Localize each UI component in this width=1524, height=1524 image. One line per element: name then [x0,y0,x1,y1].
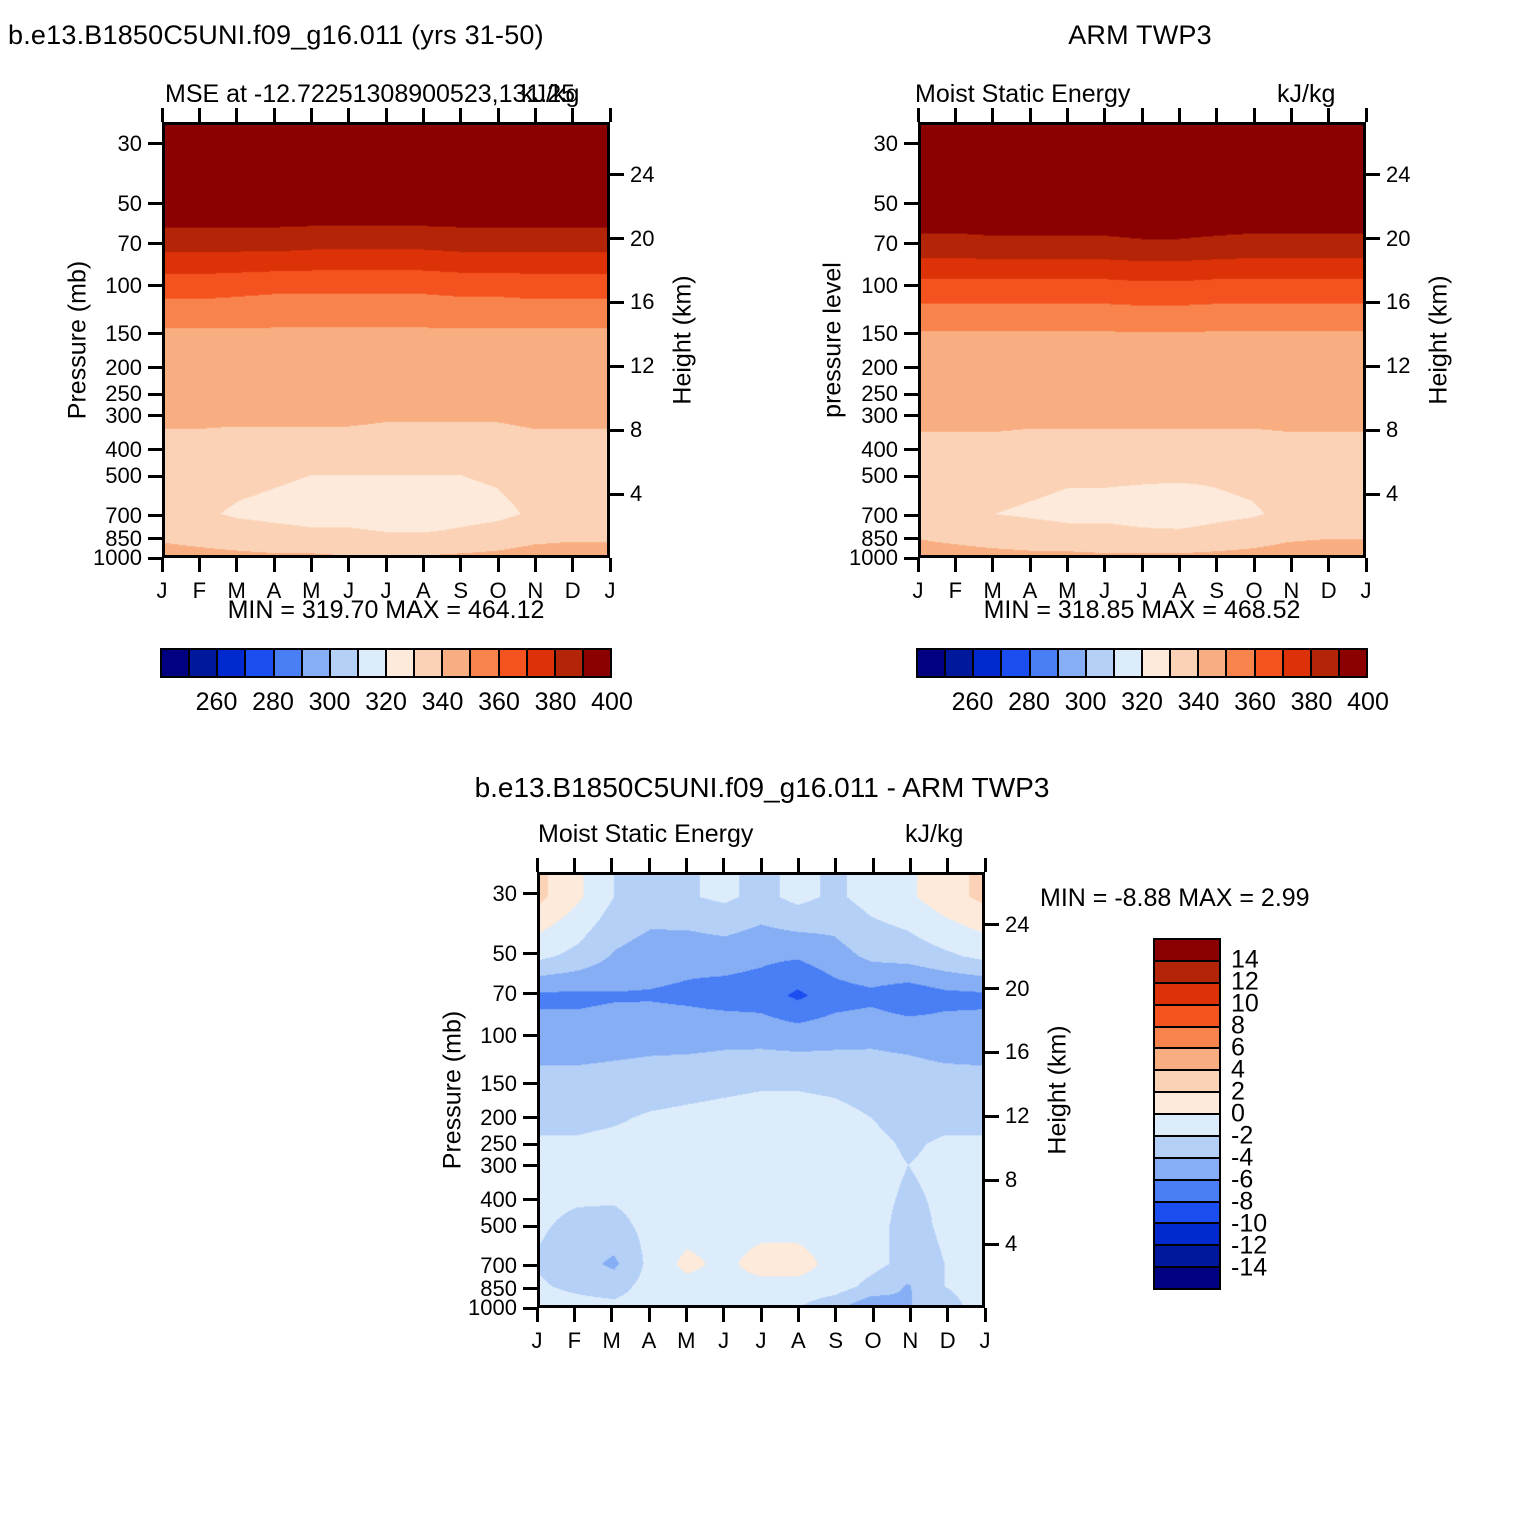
pressure-tick-label: 700 [443,1255,517,1277]
height-tick [985,1243,999,1246]
height-tick [985,1051,999,1054]
month-tick-top [310,108,313,122]
left-panel-subtitle: MSE at -12.72251308900523,131.25 [165,80,575,109]
colorbar-swatch[interactable] [1171,650,1199,676]
month-tick [685,1308,688,1322]
pressure-tick [904,332,918,335]
pressure-tick [148,202,162,205]
colorbar-swatch[interactable] [946,650,974,676]
month-tick [571,558,574,572]
colorbar-tick-label: 360 [1234,688,1276,717]
month-tick-top [536,858,539,872]
pressure-tick [523,1287,537,1290]
month-tick [1365,558,1368,572]
month-tick-top [1103,108,1106,122]
pressure-tick [148,514,162,517]
pressure-tick [523,1116,537,1119]
colorbar-swatch[interactable] [303,650,331,676]
height-tick-label: 20 [1386,228,1410,250]
height-tick [1366,429,1380,432]
pressure-tick [904,142,918,145]
colorbar-tick-label: 340 [1178,688,1220,717]
month-tick [347,558,350,572]
month-tick-label: S [828,1330,843,1352]
month-tick [273,558,276,572]
pressure-tick-label: 30 [443,883,517,905]
difference-colorbar-labels: 14121086420-2-4-6-8-10-12-14 [1153,938,1303,1290]
month-tick-top [571,108,574,122]
height-tick-label: 20 [630,228,654,250]
height-tick [610,173,624,176]
pressure-tick [523,992,537,995]
month-tick [385,558,388,572]
month-tick-top [385,108,388,122]
pressure-tick [523,952,537,955]
colorbar-tick-label: 380 [1291,688,1333,717]
month-tick [1253,558,1256,572]
colorbar-swatch[interactable] [359,650,387,676]
month-tick-top [797,858,800,872]
pressure-tick [523,1143,537,1146]
pressure-tick-label: 500 [68,465,142,487]
height-tick [1366,301,1380,304]
colorbar-swatch[interactable] [1031,650,1059,676]
pressure-tick [523,1225,537,1228]
month-tick [797,1308,800,1322]
month-tick [1327,558,1330,572]
month-tick-top [534,108,537,122]
colorbar-swatch[interactable] [387,650,415,676]
right-colorbar[interactable] [916,648,1368,678]
height-tick [985,923,999,926]
pressure-tick-label: 30 [68,133,142,155]
month-tick-top [760,858,763,872]
height-tick-label: 24 [1386,164,1410,186]
month-tick-top [1215,108,1218,122]
colorbar-tick-label: 280 [252,688,294,717]
colorbar-swatch[interactable] [556,650,584,676]
height-tick-label: 8 [1005,1169,1017,1191]
pressure-tick [148,393,162,396]
pressure-tick [148,414,162,417]
month-tick-label: J [718,1330,729,1352]
month-tick-top [1327,108,1330,122]
left-ylabel: Pressure (mb) [64,261,93,419]
colorbar-swatch[interactable] [528,650,556,676]
pressure-tick-label: 500 [443,1215,517,1237]
height-tick-label: 8 [630,419,642,441]
month-tick [497,558,500,572]
left-panel-units: kJ/kg [521,80,579,109]
month-tick-label: J [532,1330,543,1352]
pressure-tick-label: 70 [824,233,898,255]
height-tick-label: 20 [1005,978,1029,1000]
month-tick-top [273,108,276,122]
month-tick [834,1308,837,1322]
pressure-tick [904,366,918,369]
colorbar-tick-label: 380 [535,688,577,717]
month-tick-top [648,858,651,872]
month-tick-label: D [940,1330,956,1352]
right-panel-units: kJ/kg [1277,80,1335,109]
pressure-tick [904,202,918,205]
month-tick-top [422,108,425,122]
month-tick [872,1308,875,1322]
month-tick-top [1253,108,1256,122]
month-tick-top [834,858,837,872]
pressure-tick-label: 30 [824,133,898,155]
month-tick [1215,558,1218,572]
colorbar-tick-label: 320 [365,688,407,717]
bottom-panel-title: b.e13.B1850C5UNI.f09_g16.011 - ARM TWP3 [262,772,1262,804]
month-tick [648,1308,651,1322]
month-tick-label: M [602,1330,620,1352]
bottom-contour-canvas [540,875,982,1305]
colorbar-swatch[interactable] [1143,650,1171,676]
month-tick-top [954,108,957,122]
right-ylabel: pressure level [819,262,848,418]
right-ylabel-right: Height (km) [1425,275,1454,404]
height-tick [610,429,624,432]
month-tick [198,558,201,572]
pressure-tick-label: 400 [443,1189,517,1211]
month-tick-top [1066,108,1069,122]
colorbar-swatch[interactable] [443,650,471,676]
height-tick [1366,173,1380,176]
pressure-tick-label: 70 [68,233,142,255]
month-tick-top [573,858,576,872]
left-minmax: MIN = 319.70 MAX = 464.12 [162,596,610,625]
month-tick-label: J [756,1330,767,1352]
month-tick [917,558,920,572]
month-tick [1141,558,1144,572]
pressure-tick [904,537,918,540]
pressure-tick [523,1082,537,1085]
height-tick-label: 12 [1386,355,1410,377]
pressure-tick [904,514,918,517]
colorbar-tick-label: 400 [591,688,633,717]
left-ylabel-right: Height (km) [669,275,698,404]
pressure-tick-label: 1000 [68,547,142,569]
month-tick [573,1308,576,1322]
colorbar-swatch[interactable] [1256,650,1284,676]
colorbar-swatch[interactable] [500,650,528,676]
pressure-tick [148,537,162,540]
month-tick-top [610,858,613,872]
month-tick [610,1308,613,1322]
month-tick-top [459,108,462,122]
height-tick [610,301,624,304]
colorbar-swatch[interactable] [1312,650,1340,676]
right-panel-run-title: ARM TWP3 [920,20,1360,51]
pressure-tick-label: 700 [68,505,142,527]
pressure-tick-label: 50 [443,943,517,965]
month-tick [984,1308,987,1322]
month-tick-label: J [980,1330,991,1352]
bottom-panel-subtitle: Moist Static Energy [538,820,753,849]
month-tick [991,558,994,572]
colorbar-tick-label: 300 [1065,688,1107,717]
month-tick-top [917,108,920,122]
month-tick-label: A [791,1330,806,1352]
bottom-ylabel: Pressure (mb) [439,1011,468,1169]
height-tick [610,237,624,240]
colorbar-tick-label: 340 [422,688,464,717]
pressure-tick-label: 700 [824,505,898,527]
colorbar-swatch[interactable] [1340,650,1366,676]
bottom-minmax: MIN = -8.88 MAX = 2.99 [1040,884,1310,913]
right-plot-area[interactable] [918,122,1366,558]
colorbar-swatch[interactable] [918,650,946,676]
pressure-tick-label: 850 [443,1278,517,1300]
pressure-tick-label: 850 [68,528,142,550]
left-colorbar[interactable] [160,648,612,678]
height-tick-label: 16 [1386,291,1410,313]
month-tick [459,558,462,572]
month-tick-top [984,858,987,872]
month-tick-top [1141,108,1144,122]
month-tick [954,558,957,572]
month-tick-top [609,108,612,122]
colorbar-swatch[interactable] [471,650,499,676]
month-tick-top [991,108,994,122]
colorbar-swatch[interactable] [1115,650,1143,676]
height-tick [610,365,624,368]
month-tick-label: F [568,1330,581,1352]
pressure-tick-label: 850 [824,528,898,550]
height-tick-label: 12 [630,355,654,377]
left-contour-canvas [165,125,607,555]
colorbar-tick-label: 360 [478,688,520,717]
colorbar-swatch[interactable] [415,650,443,676]
month-tick [722,1308,725,1322]
colorbar-tick-label: -14 [1231,1254,1267,1283]
pressure-tick [148,557,162,560]
height-tick [985,1179,999,1182]
month-tick-top [497,108,500,122]
height-tick-label: 4 [1386,483,1398,505]
pressure-tick [904,448,918,451]
colorbar-swatch[interactable] [584,650,610,676]
left-panel-run-title: b.e13.B1850C5UNI.f09_g16.011 (yrs 31-50) [8,20,544,51]
right-colorbar-labels: 260280300320340360380400 [916,688,1368,718]
right-contour-canvas [921,125,1363,555]
month-tick-top [872,858,875,872]
month-tick-top [347,108,350,122]
pressure-tick [904,557,918,560]
month-tick-top [685,858,688,872]
colorbar-tick-label: 400 [1347,688,1389,717]
pressure-tick [523,1198,537,1201]
colorbar-tick-label: 260 [196,688,238,717]
month-tick-top [909,858,912,872]
colorbar-swatch[interactable] [1284,650,1312,676]
colorbar-tick-label: 280 [1008,688,1050,717]
month-tick [1029,558,1032,572]
height-tick-label: 4 [1005,1233,1017,1255]
colorbar-swatch[interactable] [331,650,359,676]
month-tick [536,1308,539,1322]
height-tick [985,987,999,990]
month-tick [422,558,425,572]
bottom-ylabel-right: Height (km) [1044,1025,1073,1154]
month-tick-top [1029,108,1032,122]
month-tick-top [1365,108,1368,122]
height-tick-label: 24 [1005,914,1029,936]
month-tick [946,1308,949,1322]
pressure-tick [148,242,162,245]
pressure-tick [148,366,162,369]
left-plot-area[interactable] [162,122,610,558]
colorbar-swatch[interactable] [974,650,1002,676]
month-tick [235,558,238,572]
right-panel-subtitle: Moist Static Energy [915,80,1130,109]
pressure-tick [904,393,918,396]
pressure-tick [523,1307,537,1310]
month-tick [609,558,612,572]
pressure-tick [523,1264,537,1267]
month-tick [161,558,164,572]
pressure-tick-label: 1000 [824,547,898,569]
month-tick-label: O [864,1330,881,1352]
month-tick [1290,558,1293,572]
colorbar-tick-label: 260 [952,688,994,717]
colorbar-swatch[interactable] [218,650,246,676]
pressure-tick [904,414,918,417]
month-tick-label: A [642,1330,657,1352]
month-tick-label: N [902,1330,918,1352]
month-tick-top [1290,108,1293,122]
height-tick-label: 16 [1005,1041,1029,1063]
month-tick-top [235,108,238,122]
month-tick [1178,558,1181,572]
month-tick-top [946,858,949,872]
pressure-tick-label: 400 [68,439,142,461]
left-colorbar-labels: 260280300320340360380400 [160,688,612,718]
colorbar-swatch[interactable] [275,650,303,676]
colorbar-swatch[interactable] [1059,650,1087,676]
month-tick [1066,558,1069,572]
pressure-tick-label: 1000 [443,1297,517,1319]
pressure-tick [148,475,162,478]
pressure-tick [148,332,162,335]
colorbar-swatch[interactable] [1087,650,1115,676]
height-tick [610,493,624,496]
colorbar-swatch[interactable] [1227,650,1255,676]
colorbar-swatch[interactable] [190,650,218,676]
pressure-tick [523,1034,537,1037]
month-tick [1103,558,1106,572]
height-tick-label: 12 [1005,1105,1029,1127]
pressure-tick-label: 70 [443,983,517,1005]
month-tick-label: M [677,1330,695,1352]
pressure-tick [904,284,918,287]
pressure-tick-label: 500 [824,465,898,487]
height-tick [1366,237,1380,240]
pressure-tick-label: 400 [824,439,898,461]
height-tick-label: 24 [630,164,654,186]
month-tick [534,558,537,572]
colorbar-swatch[interactable] [1199,650,1227,676]
height-tick-label: 4 [630,483,642,505]
colorbar-swatch[interactable] [246,650,274,676]
pressure-tick [523,892,537,895]
bottom-plot-area[interactable] [537,872,985,1308]
pressure-tick [904,242,918,245]
right-minmax: MIN = 318.85 MAX = 468.52 [918,596,1366,625]
pressure-tick [148,142,162,145]
month-tick [760,1308,763,1322]
height-tick-label: 16 [630,291,654,313]
height-tick-label: 8 [1386,419,1398,441]
bottom-panel-units: kJ/kg [905,820,963,849]
month-tick-top [722,858,725,872]
colorbar-tick-label: 300 [309,688,351,717]
pressure-tick [904,475,918,478]
pressure-tick-label: 50 [68,193,142,215]
month-tick-top [161,108,164,122]
month-tick-top [198,108,201,122]
colorbar-swatch[interactable] [162,650,190,676]
pressure-tick [523,1164,537,1167]
pressure-tick-label: 50 [824,193,898,215]
colorbar-swatch[interactable] [1002,650,1030,676]
month-tick [310,558,313,572]
height-tick [1366,493,1380,496]
pressure-tick [148,284,162,287]
pressure-tick [148,448,162,451]
month-tick [909,1308,912,1322]
colorbar-tick-label: 320 [1121,688,1163,717]
month-tick-top [1178,108,1181,122]
height-tick [1366,365,1380,368]
height-tick [985,1115,999,1118]
